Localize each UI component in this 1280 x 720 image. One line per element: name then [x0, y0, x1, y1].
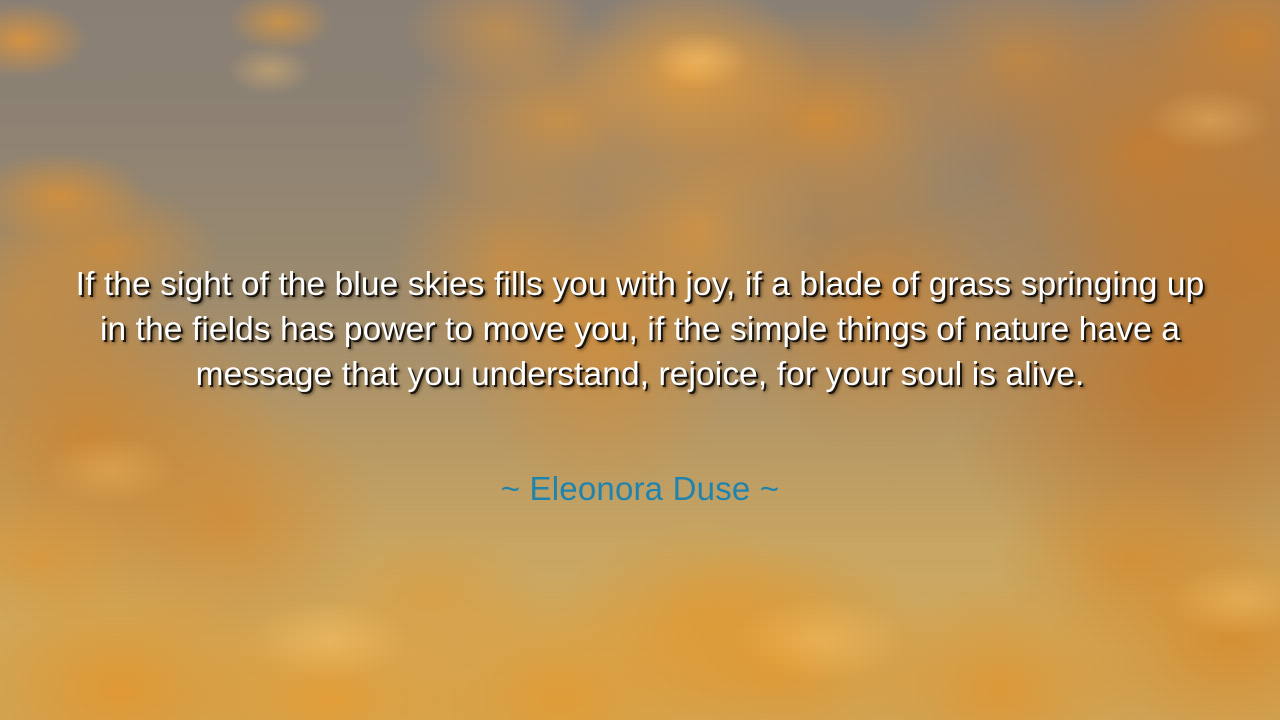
quote-block: If the sight of the blue skies fills you… — [0, 262, 1280, 397]
quote-text: If the sight of the blue skies fills you… — [66, 262, 1214, 397]
quote-attribution: ~ Eleonora Duse ~ — [0, 468, 1280, 510]
quote-card: If the sight of the blue skies fills you… — [0, 0, 1280, 720]
